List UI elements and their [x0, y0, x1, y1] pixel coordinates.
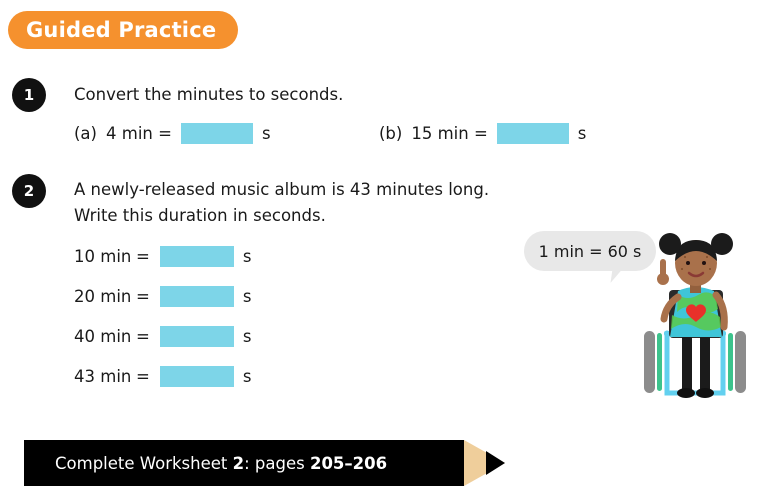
- hand-left: [657, 273, 669, 285]
- question-2-prompt-line-1: A newly-released music album is 43 minut…: [74, 180, 489, 199]
- question-2-prompt-line-2: Write this duration in seconds.: [74, 206, 326, 225]
- unit-label-1b: s: [578, 124, 587, 143]
- answer-blank-1a[interactable]: [181, 123, 253, 144]
- shoe-right: [696, 388, 714, 398]
- question-1-prompt: Convert the minutes to seconds.: [74, 85, 343, 104]
- freckle-3: [684, 256, 686, 258]
- leg-left: [682, 333, 692, 391]
- wheel-rim-right: [728, 333, 733, 391]
- answer-blank-1b[interactable]: [497, 123, 569, 144]
- part-label-b: (b): [379, 124, 402, 143]
- unit-label-2-3: s: [243, 367, 252, 386]
- footer-pencil-banner: Complete Worksheet 2: pages 205–206: [24, 440, 505, 486]
- footer-worksheet-number: 2: [233, 454, 244, 473]
- freckle-4: [706, 256, 708, 258]
- hair-bun-left: [659, 233, 681, 255]
- unit-label-2-1: s: [243, 287, 252, 306]
- equals-sign-2: =: [136, 327, 150, 346]
- character-illustration-girl-in-wheelchair: [636, 233, 754, 408]
- speech-bubble-tail: [611, 261, 628, 285]
- wheel-right: [735, 331, 746, 393]
- conversion-row-20-min: 20 min = s: [74, 286, 251, 307]
- conversion-lhs-1: 20 min: [74, 287, 136, 306]
- answer-blank-2-0[interactable]: [160, 246, 234, 267]
- question-1-part-b: (b) 15 min = s: [379, 123, 586, 144]
- answer-blank-2-2[interactable]: [160, 326, 234, 347]
- wheel-rim-left: [657, 333, 662, 391]
- eye-left: [686, 261, 690, 265]
- footer-text-prefix: Complete Worksheet: [55, 454, 233, 473]
- equals-sign-3: =: [136, 367, 150, 386]
- answer-blank-2-3[interactable]: [160, 366, 234, 387]
- freckle-1: [681, 268, 683, 270]
- guided-practice-header-badge: Guided Practice: [8, 11, 238, 49]
- footer-page-range: 205–206: [310, 454, 387, 473]
- equals-sign-0: =: [136, 247, 150, 266]
- conversion-lhs-3: 43 min: [74, 367, 136, 386]
- pencil-tip-icon: [486, 451, 505, 475]
- question-number-badge-2: 2: [12, 174, 46, 208]
- expression-a: 4 min =: [106, 124, 172, 143]
- conversion-lhs-2: 40 min: [74, 327, 136, 346]
- hair-bun-right: [711, 233, 733, 255]
- footer-text-middle: : pages: [244, 454, 310, 473]
- question-1-part-a: (a) 4 min = s: [74, 123, 271, 144]
- hint-text: 1 min = 60 s: [539, 242, 642, 261]
- unit-label-1a: s: [262, 124, 271, 143]
- conversion-lhs-0: 10 min: [74, 247, 136, 266]
- answer-blank-2-1[interactable]: [160, 286, 234, 307]
- leg-right: [700, 333, 710, 391]
- page-title: Guided Practice: [26, 18, 216, 42]
- part-label-a: (a): [74, 124, 97, 143]
- equals-sign-1: =: [136, 287, 150, 306]
- footer-instruction-text: Complete Worksheet 2: pages 205–206: [55, 454, 387, 473]
- eye-right: [702, 261, 706, 265]
- footer-banner-body: Complete Worksheet 2: pages 205–206: [24, 440, 464, 486]
- conversion-row-40-min: 40 min = s: [74, 326, 251, 347]
- conversion-row-10-min: 10 min = s: [74, 246, 251, 267]
- unit-label-2-2: s: [243, 327, 252, 346]
- conversion-row-43-min: 43 min = s: [74, 366, 251, 387]
- shoe-left: [677, 388, 695, 398]
- question-number-badge-1: 1: [12, 78, 46, 112]
- unit-label-2-0: s: [243, 247, 252, 266]
- freckle-2: [709, 268, 711, 270]
- chair-frame: [667, 333, 723, 393]
- wheel-left: [644, 331, 655, 393]
- expression-b: 15 min =: [411, 124, 487, 143]
